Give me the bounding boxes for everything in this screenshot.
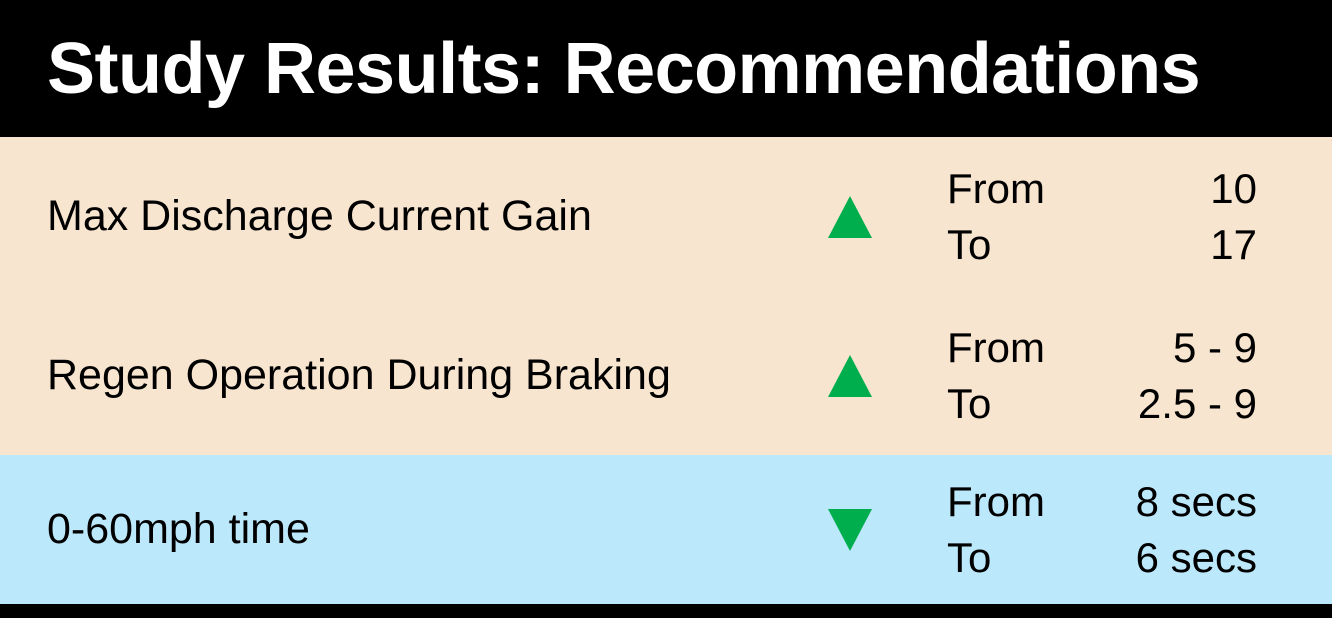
- row-label-max-discharge-current-gain: Max Discharge Current Gain: [47, 195, 592, 238]
- change-line-from: From 8 secs: [947, 474, 1257, 529]
- from-label: From: [947, 320, 1045, 375]
- row-label-0-60mph-time: 0-60mph time: [47, 508, 310, 551]
- trend-cell: [800, 355, 900, 397]
- change-block: From 8 secs To 6 secs: [947, 474, 1257, 585]
- slide-root: Study Results: Recommendations Max Disch…: [0, 0, 1332, 618]
- change-line-to: To 6 secs: [947, 530, 1257, 585]
- to-label: To: [947, 530, 991, 585]
- triangle-up-icon: [828, 355, 872, 397]
- triangle-down-icon: [828, 509, 872, 551]
- recommendations-table: Max Discharge Current Gain From 10 To 17…: [0, 137, 1332, 604]
- table-row: 0-60mph time From 8 secs To 6 secs: [0, 455, 1332, 604]
- to-label: To: [947, 217, 991, 272]
- change-line-to: To 2.5 - 9: [947, 376, 1257, 431]
- change-block: From 10 To 17: [947, 161, 1257, 272]
- change-line-from: From 5 - 9: [947, 320, 1257, 375]
- to-value: 2.5 - 9: [1138, 376, 1257, 431]
- table-row: Regen Operation During Braking From 5 - …: [0, 296, 1332, 455]
- from-label: From: [947, 474, 1045, 529]
- to-label: To: [947, 376, 991, 431]
- trend-cell: [800, 509, 900, 551]
- page-title: Study Results: Recommendations: [47, 33, 1200, 105]
- trend-cell: [800, 196, 900, 238]
- to-value: 17: [1210, 217, 1257, 272]
- from-value: 8 secs: [1136, 474, 1257, 529]
- change-line-from: From 10: [947, 161, 1257, 216]
- from-label: From: [947, 161, 1045, 216]
- bottom-bar: [0, 604, 1332, 618]
- table-row: Max Discharge Current Gain From 10 To 17: [0, 137, 1332, 296]
- from-value: 5 - 9: [1173, 320, 1257, 375]
- from-value: 10: [1210, 161, 1257, 216]
- title-bar: Study Results: Recommendations: [0, 0, 1332, 137]
- triangle-up-icon: [828, 196, 872, 238]
- row-label-regen-operation-during-braking: Regen Operation During Braking: [47, 354, 671, 397]
- to-value: 6 secs: [1136, 530, 1257, 585]
- change-block: From 5 - 9 To 2.5 - 9: [947, 320, 1257, 431]
- change-line-to: To 17: [947, 217, 1257, 272]
